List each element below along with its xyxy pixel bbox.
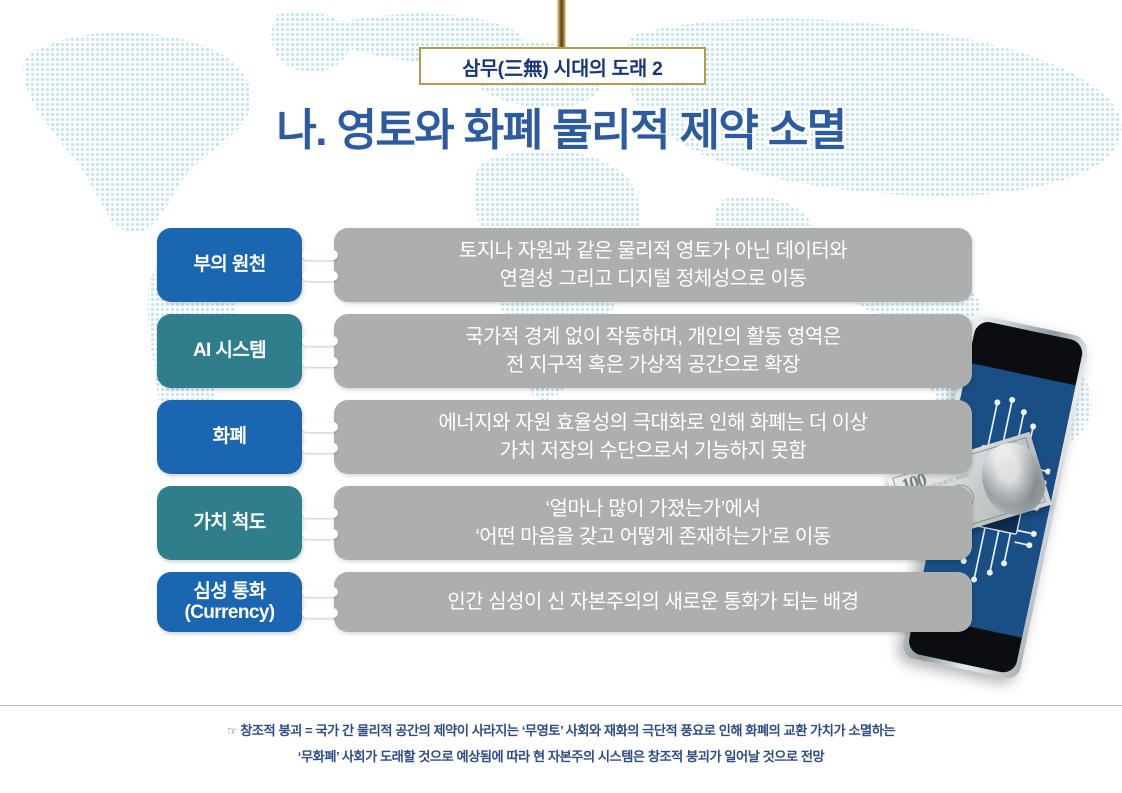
row-description-line: 에너지와 자원 효율성의 극대화로 인해 화폐는 더 이상 <box>438 409 867 437</box>
gold-stem-divider <box>557 0 566 47</box>
connector-bracket-icon <box>302 486 338 560</box>
slide-badge: 삼무(三無) 시대의 도래 2 <box>419 47 706 85</box>
table-row: 가치 척도 ‘얼마나 많이 가졌는가’에서 ‘어떤 마음을 갖고 어떻게 존재하… <box>0 486 1122 560</box>
connector-bar-top <box>302 422 338 432</box>
row-description-2: 에너지와 자원 효율성의 극대화로 인해 화폐는 더 이상 가치 저장의 수단으… <box>334 400 972 474</box>
pointing-hand-icon: ☞ <box>227 724 237 738</box>
connector-bar-top <box>302 587 338 597</box>
row-description-line: 가치 저장의 수단으로서 기능하지 못함 <box>438 437 867 465</box>
footer-note: ☞창조적 붕괴 = 국가 간 물리적 공간의 제약이 사라지는 ‘무영토’ 사회… <box>0 718 1122 769</box>
row-description-0: 토지나 자원과 같은 물리적 영토가 아닌 데이터와 연결성 그리고 디지털 정… <box>334 228 972 302</box>
row-description-3: ‘얼마나 많이 가졌는가’에서 ‘어떤 마음을 갖고 어떻게 존재하는가’로 이… <box>334 486 972 560</box>
row-label-4[interactable]: 심성 통화 (Currency) <box>157 572 302 632</box>
connector-bar-top <box>302 250 338 260</box>
connector-bar-top <box>302 336 338 346</box>
table-row: 부의 원천 토지나 자원과 같은 물리적 영토가 아닌 데이터와 연결성 그리고… <box>0 228 1122 302</box>
row-list: 부의 원천 토지나 자원과 같은 물리적 영토가 아닌 데이터와 연결성 그리고… <box>0 228 1122 632</box>
slide-badge-label: 삼무(三無) 시대의 도래 2 <box>462 52 662 81</box>
footer-divider <box>0 705 1122 706</box>
slide-canvas: 삼무(三無) 시대의 도래 2 나. 영토와 화폐 물리적 제약 소멸 <box>0 0 1122 793</box>
table-row: 화폐 에너지와 자원 효율성의 극대화로 인해 화폐는 더 이상 가치 저장의 … <box>0 400 1122 474</box>
row-label-1[interactable]: AI 시스템 <box>157 314 302 388</box>
row-description-1: 국가적 경계 없이 작동하며, 개인의 활동 영역은 전 지구적 혹은 가상적 … <box>334 314 972 388</box>
connector-bracket-icon <box>302 400 338 474</box>
row-description-line: ‘어떤 마음을 갖고 어떻게 존재하는가’로 이동 <box>475 523 830 551</box>
row-description-line: 토지나 자원과 같은 물리적 영토가 아닌 데이터와 <box>459 237 847 265</box>
row-description-line: 연결성 그리고 디지털 정체성으로 이동 <box>459 265 847 293</box>
table-row: AI 시스템 국가적 경계 없이 작동하며, 개인의 활동 영역은 전 지구적 … <box>0 314 1122 388</box>
footer-line-1: 창조적 붕괴 = 국가 간 물리적 공간의 제약이 사라지는 ‘무영토’ 사회와… <box>240 723 895 738</box>
row-description-line: ‘얼마나 많이 가졌는가’에서 <box>475 495 830 523</box>
connector-bracket-icon <box>302 572 338 632</box>
connector-bar-bottom <box>302 608 338 618</box>
row-label-3[interactable]: 가치 척도 <box>157 486 302 560</box>
footer-line-2: ‘무화폐’ 사회가 도래할 것으로 예상됨에 따라 현 자본주의 시스템은 창조… <box>0 744 1122 770</box>
row-description-line: 전 지구적 혹은 가상적 공간으로 확장 <box>465 351 841 379</box>
row-label-2[interactable]: 화폐 <box>157 400 302 474</box>
connector-bracket-icon <box>302 228 338 302</box>
connector-bracket-icon <box>302 314 338 388</box>
table-row: 심성 통화 (Currency) 인간 심성이 신 자본주의의 새로운 통화가 … <box>0 572 1122 632</box>
row-label-line1: 심성 통화 <box>184 581 274 602</box>
row-description-4: 인간 심성이 신 자본주의의 새로운 통화가 되는 배경 <box>334 572 972 632</box>
connector-bar-bottom <box>302 443 338 453</box>
row-label-line2: (Currency) <box>184 602 274 623</box>
connector-bar-top <box>302 508 338 518</box>
page-title: 나. 영토와 화폐 물리적 제약 소멸 <box>0 94 1122 158</box>
row-description-line: 국가적 경계 없이 작동하며, 개인의 활동 영역은 <box>465 323 841 351</box>
connector-bar-bottom <box>302 357 338 367</box>
row-description-line: 인간 심성이 신 자본주의의 새로운 통화가 되는 배경 <box>447 588 858 616</box>
connector-bar-bottom <box>302 271 338 281</box>
connector-bar-bottom <box>302 529 338 539</box>
row-label-0[interactable]: 부의 원천 <box>157 228 302 302</box>
